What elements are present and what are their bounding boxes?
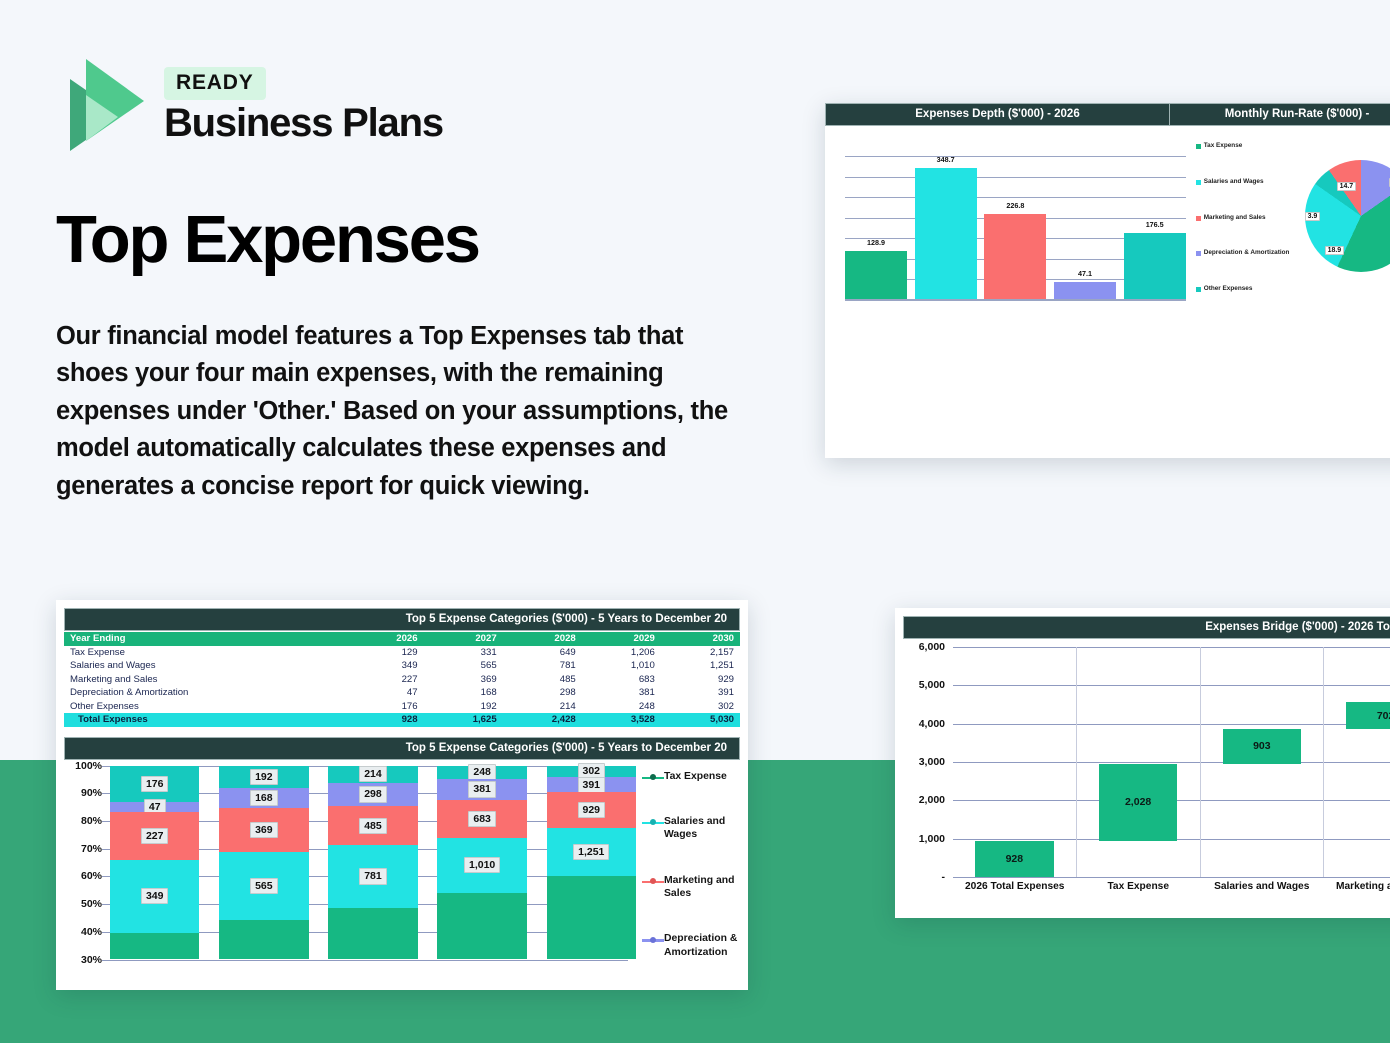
- cell: 298: [503, 686, 582, 700]
- table-total-row[interactable]: Total Expenses 928 1,625 2,428 3,528 5,0…: [64, 713, 740, 727]
- waterfall-y-axis: 6,000 5,000 4,000 3,000 2,000 1,000 -: [903, 647, 949, 877]
- segment-salaries-wages[interactable]: 1,251: [547, 828, 636, 876]
- expenses-depth-panel: Expenses Depth ($'000) - 2026 Monthly Ru…: [825, 103, 1390, 458]
- segment-tax-expense[interactable]: [437, 893, 526, 959]
- segment-value: 248: [468, 764, 496, 780]
- legend-line-marker-icon: [642, 817, 664, 828]
- expenses-bridge-panel: Expenses Bridge ($'000) - 2026 Total Exp…: [895, 608, 1390, 918]
- segment-value: 214: [359, 766, 387, 782]
- waterfall-column-marketing-sales[interactable]: 702: [1323, 647, 1390, 877]
- monthly-run-rate-pie-chart: 10.7 14.7 3.9 18.9: [1297, 134, 1390, 312]
- segment-tax-expense[interactable]: [547, 876, 636, 959]
- cell: 781: [503, 659, 582, 673]
- segment-value: 929: [578, 802, 606, 818]
- cell: 683: [582, 673, 661, 687]
- y-tick: 50%: [81, 898, 102, 910]
- legend-swatch-icon: [1196, 251, 1201, 256]
- col-2029: 2029: [582, 632, 661, 646]
- legend-item-salaries-wages[interactable]: Salaries and Wages: [1196, 178, 1291, 187]
- segment-other-expenses[interactable]: 248: [437, 766, 526, 780]
- stacked-chart-y-axis: 100% 90% 80% 70% 60% 50% 40% 30%: [64, 766, 106, 960]
- segment-salaries-wages[interactable]: 349: [110, 860, 199, 933]
- segment-other-expenses[interactable]: 192: [219, 766, 308, 789]
- x-tick: Salaries and Wages: [1200, 881, 1324, 892]
- row-label: Tax Expense: [64, 646, 350, 660]
- bar-value-label: 47.1: [1078, 269, 1092, 278]
- total-cell: 5,030: [661, 713, 740, 727]
- brand-logo[interactable]: READY Business Plans: [56, 55, 443, 155]
- segment-value: 192: [250, 769, 278, 785]
- table-row[interactable]: Other Expenses 176 192 214 248 302: [64, 700, 740, 714]
- legend-item-salaries-wages[interactable]: Salaries and Wages: [642, 815, 742, 842]
- bar-salaries-wages[interactable]: 348.7: [915, 168, 977, 300]
- col-2028: 2028: [503, 632, 582, 646]
- col-2026: 2026: [350, 632, 423, 646]
- bar-chart-x-axis: [845, 299, 1186, 301]
- cell: 2,157: [661, 646, 740, 660]
- legend-label: Marketing and Sales: [664, 874, 742, 901]
- y-tick: 40%: [81, 926, 102, 938]
- segment-marketing-sales[interactable]: 929: [547, 792, 636, 828]
- segment-value: 391: [578, 777, 606, 793]
- segment-value: 1,010: [464, 857, 500, 873]
- pie-label-salaries: 18.9: [1325, 246, 1345, 255]
- y-tick: -: [942, 871, 946, 883]
- waterfall-x-axis-labels: 2026 Total Expenses Tax Expense Salaries…: [953, 881, 1390, 892]
- y-tick: 1,000: [919, 833, 945, 845]
- bar-value-label: 348.7: [937, 155, 955, 164]
- y-tick: 6,000: [919, 641, 945, 653]
- stacked-column-2028[interactable]: 214 298 485 781: [328, 766, 417, 960]
- y-tick: 30%: [81, 954, 102, 966]
- bar-value-label: 928: [1006, 853, 1024, 865]
- y-tick: 2,000: [919, 794, 945, 806]
- segment-marketing-sales[interactable]: 227: [110, 812, 199, 860]
- segment-marketing-sales[interactable]: 369: [219, 808, 308, 852]
- legend-item-marketing-sales[interactable]: Marketing and Sales: [1196, 214, 1291, 223]
- segment-depreciation[interactable]: 391: [547, 777, 636, 792]
- bar-depreciation[interactable]: 47.1: [1054, 282, 1116, 300]
- segment-value: 227: [141, 828, 169, 844]
- y-tick: 70%: [81, 843, 102, 855]
- panel-title-row: Expenses Depth ($'000) - 2026 Monthly Ru…: [825, 103, 1390, 126]
- legend-item-depreciation[interactable]: Depreciation & Amortization: [1196, 249, 1291, 258]
- legend-label: Salaries and Wages: [1204, 178, 1264, 187]
- bar-value-label: 2,028: [1125, 796, 1151, 808]
- segment-tax-expense[interactable]: [328, 908, 417, 960]
- legend-label: Depreciation & Amortization: [664, 932, 742, 959]
- segment-depreciation[interactable]: 168: [219, 788, 308, 808]
- segment-depreciation[interactable]: 381: [437, 779, 526, 800]
- bar-value-label: 176.5: [1146, 220, 1164, 229]
- col-2027: 2027: [424, 632, 503, 646]
- cell: 485: [503, 673, 582, 687]
- segment-other-expenses[interactable]: 214: [328, 766, 417, 783]
- cell: 391: [661, 686, 740, 700]
- cell: 302: [661, 700, 740, 714]
- cell: 929: [661, 673, 740, 687]
- legend-swatch-icon: [1196, 287, 1201, 292]
- cell: 565: [424, 659, 503, 673]
- table-header-row: Year Ending 2026 2027 2028 2029 2030: [64, 632, 740, 646]
- legend-swatch-icon: [1196, 144, 1201, 149]
- stacked-column-2029[interactable]: 248 381 683 1,010: [437, 766, 526, 960]
- segment-other-expenses[interactable]: 302: [547, 766, 636, 778]
- cell: 129: [350, 646, 423, 660]
- monthly-run-rate-title: Monthly Run-Rate ($'000) -: [1170, 103, 1390, 126]
- row-label: Marketing and Sales: [64, 673, 350, 687]
- legend-label: Tax Expense: [664, 770, 727, 784]
- page-description: Our financial model features a Top Expen…: [56, 318, 756, 505]
- segment-value: 565: [250, 878, 278, 894]
- cell: 1,010: [582, 659, 661, 673]
- expenses-depth-title: Expenses Depth ($'000) - 2026: [825, 103, 1170, 126]
- expenses-depth-bar-chart: 128.9 348.7 226.8 47.1: [841, 134, 1192, 312]
- cell: 47: [350, 686, 423, 700]
- segment-value: 683: [468, 811, 496, 827]
- table-row[interactable]: Salaries and Wages 349 565 781 1,010 1,2…: [64, 659, 740, 673]
- x-tick: Tax Expense: [1077, 881, 1201, 892]
- legend-label: Tax Expense: [1204, 142, 1243, 151]
- y-tick: 90%: [81, 787, 102, 799]
- table-row[interactable]: Depreciation & Amortization 47 168 298 3…: [64, 686, 740, 700]
- legend-label: Depreciation & Amortization: [1204, 249, 1290, 258]
- cell: 1,206: [582, 646, 661, 660]
- cell: 248: [582, 700, 661, 714]
- segment-depreciation[interactable]: 298: [328, 783, 417, 807]
- legend-item-marketing-sales[interactable]: Marketing and Sales: [642, 874, 742, 901]
- legend-item-tax-expense[interactable]: Tax Expense: [1196, 142, 1291, 151]
- legend-label: Other Expenses: [1204, 285, 1253, 294]
- bar-tax-expense[interactable]: 128.9: [845, 251, 907, 300]
- top-5-expense-categories-panel: Top 5 Expense Categories ($'000) - 5 Yea…: [56, 600, 748, 990]
- waterfall-column-tax-expense[interactable]: 2,028: [1076, 647, 1200, 877]
- panel-charts-row: 128.9 348.7 226.8 47.1: [825, 126, 1390, 312]
- cell: 192: [424, 700, 503, 714]
- cell: 1,251: [661, 659, 740, 673]
- pie-label-marketing: 14.7: [1337, 182, 1357, 191]
- cell: 331: [424, 646, 503, 660]
- bar-value-label: 128.9: [867, 238, 885, 247]
- row-label: Depreciation & Amortization: [64, 686, 350, 700]
- segment-value: 369: [250, 822, 278, 838]
- y-tick: 3,000: [919, 756, 945, 768]
- segment-marketing-sales[interactable]: 683: [437, 800, 526, 838]
- bar-value-label: 226.8: [1006, 201, 1024, 210]
- y-tick: 5,000: [919, 679, 945, 691]
- expenses-depth-legend: Tax Expense Salaries and Wages Marketing…: [1192, 134, 1291, 294]
- cell: 649: [503, 646, 582, 660]
- ready-badge: READY: [164, 67, 266, 100]
- bar-value-label: 903: [1253, 740, 1271, 752]
- play-triangle-logo-icon: [56, 55, 148, 155]
- total-cell: 1,625: [424, 713, 503, 727]
- expense-categories-stacked-chart: 100% 90% 80% 70% 60% 50% 40% 30% 176: [64, 766, 740, 981]
- slide-root: READY Business Plans Top Expenses Our fi…: [0, 0, 1390, 1043]
- waterfall-bar[interactable]: 928: [975, 841, 1054, 877]
- y-tick: 100%: [75, 760, 102, 772]
- segment-value: 781: [359, 868, 387, 884]
- table-row[interactable]: Tax Expense 129 331 649 1,206 2,157: [64, 646, 740, 660]
- segment-marketing-sales[interactable]: 485: [328, 806, 417, 845]
- legend-line-marker-icon: [642, 934, 664, 945]
- bar-value-label: 702: [1377, 710, 1390, 722]
- legend-swatch-icon: [1196, 216, 1201, 221]
- segment-tax-expense[interactable]: [219, 920, 308, 960]
- legend-item-other-expenses[interactable]: Other Expenses: [1196, 285, 1291, 294]
- waterfall-column-salaries-wages[interactable]: 903: [1200, 647, 1324, 877]
- segment-value: 381: [468, 781, 496, 797]
- col-2030: 2030: [661, 632, 740, 646]
- segment-value: 176: [141, 776, 169, 792]
- cell: 349: [350, 659, 423, 673]
- cell: 176: [350, 700, 423, 714]
- waterfall-bar[interactable]: 903: [1223, 729, 1302, 764]
- stacked-column-2027[interactable]: 192 168 369 565: [219, 766, 308, 960]
- segment-tax-expense[interactable]: [110, 933, 199, 960]
- stacked-column-2030[interactable]: 302 391 929 1,251: [547, 766, 636, 960]
- legend-line-marker-icon: [642, 772, 664, 783]
- segment-value: 168: [250, 790, 278, 806]
- x-tick: 2026 Total Expenses: [953, 881, 1077, 892]
- cell: 227: [350, 673, 423, 687]
- total-cell: 3,528: [582, 713, 661, 727]
- segment-value: 349: [141, 888, 169, 904]
- table-row[interactable]: Marketing and Sales 227 369 485 683 929: [64, 673, 740, 687]
- segment-value: 298: [359, 786, 387, 802]
- segment-salaries-wages[interactable]: 781: [328, 845, 417, 907]
- stacked-chart-legend: Tax Expense Salaries and Wages Marketing…: [642, 770, 742, 960]
- legend-item-tax-expense[interactable]: Tax Expense: [642, 770, 742, 784]
- expense-stacked-chart-title: Top 5 Expense Categories ($'000) - 5 Yea…: [64, 737, 740, 760]
- waterfall-column-total-2026[interactable]: 928: [953, 647, 1076, 877]
- segment-salaries-wages[interactable]: 1,010: [437, 838, 526, 893]
- legend-item-depreciation[interactable]: Depreciation & Amortization: [642, 932, 742, 959]
- segment-depreciation[interactable]: 47: [110, 802, 199, 812]
- page-title: Top Expenses: [56, 205, 479, 275]
- cell: 214: [503, 700, 582, 714]
- expenses-bridge-waterfall-chart: 6,000 5,000 4,000 3,000 2,000 1,000 - 9: [903, 647, 1390, 915]
- waterfall-bar[interactable]: 702: [1346, 702, 1390, 729]
- expenses-bridge-title: Expenses Bridge ($'000) - 2026 Total Exp…: [903, 616, 1390, 639]
- cell: 369: [424, 673, 503, 687]
- col-year-ending: Year Ending: [64, 632, 350, 646]
- bar-marketing-sales[interactable]: 226.8: [984, 214, 1046, 300]
- segment-other-expenses[interactable]: 176: [110, 766, 199, 803]
- total-label: Total Expenses: [64, 713, 350, 727]
- segment-value: 485: [359, 818, 387, 834]
- y-tick: 80%: [81, 815, 102, 827]
- bar-other-expenses[interactable]: 176.5: [1124, 233, 1186, 300]
- legend-line-marker-icon: [642, 876, 664, 887]
- legend-label: Salaries and Wages: [664, 815, 742, 842]
- y-tick: 60%: [81, 870, 102, 882]
- cell: 168: [424, 686, 503, 700]
- x-tick: Marketing and Sales: [1324, 881, 1390, 892]
- waterfall-bar[interactable]: 2,028: [1099, 764, 1178, 842]
- total-cell: 928: [350, 713, 423, 727]
- brand-name: Business Plans: [164, 102, 443, 144]
- total-cell: 2,428: [503, 713, 582, 727]
- legend-swatch-icon: [1196, 180, 1201, 185]
- expense-table-title: Top 5 Expense Categories ($'000) - 5 Yea…: [64, 608, 740, 631]
- row-label: Salaries and Wages: [64, 659, 350, 673]
- pie-label-other: 3.9: [1305, 212, 1321, 221]
- cell: 381: [582, 686, 661, 700]
- y-tick: 4,000: [919, 718, 945, 730]
- row-label: Other Expenses: [64, 700, 350, 714]
- stacked-column-2026[interactable]: 176 47 227 349: [110, 766, 199, 960]
- expense-categories-table: Year Ending 2026 2027 2028 2029 2030 Tax…: [64, 632, 740, 727]
- legend-label: Marketing and Sales: [1204, 214, 1266, 223]
- segment-salaries-wages[interactable]: 565: [219, 852, 308, 920]
- segment-value: 1,251: [573, 844, 609, 860]
